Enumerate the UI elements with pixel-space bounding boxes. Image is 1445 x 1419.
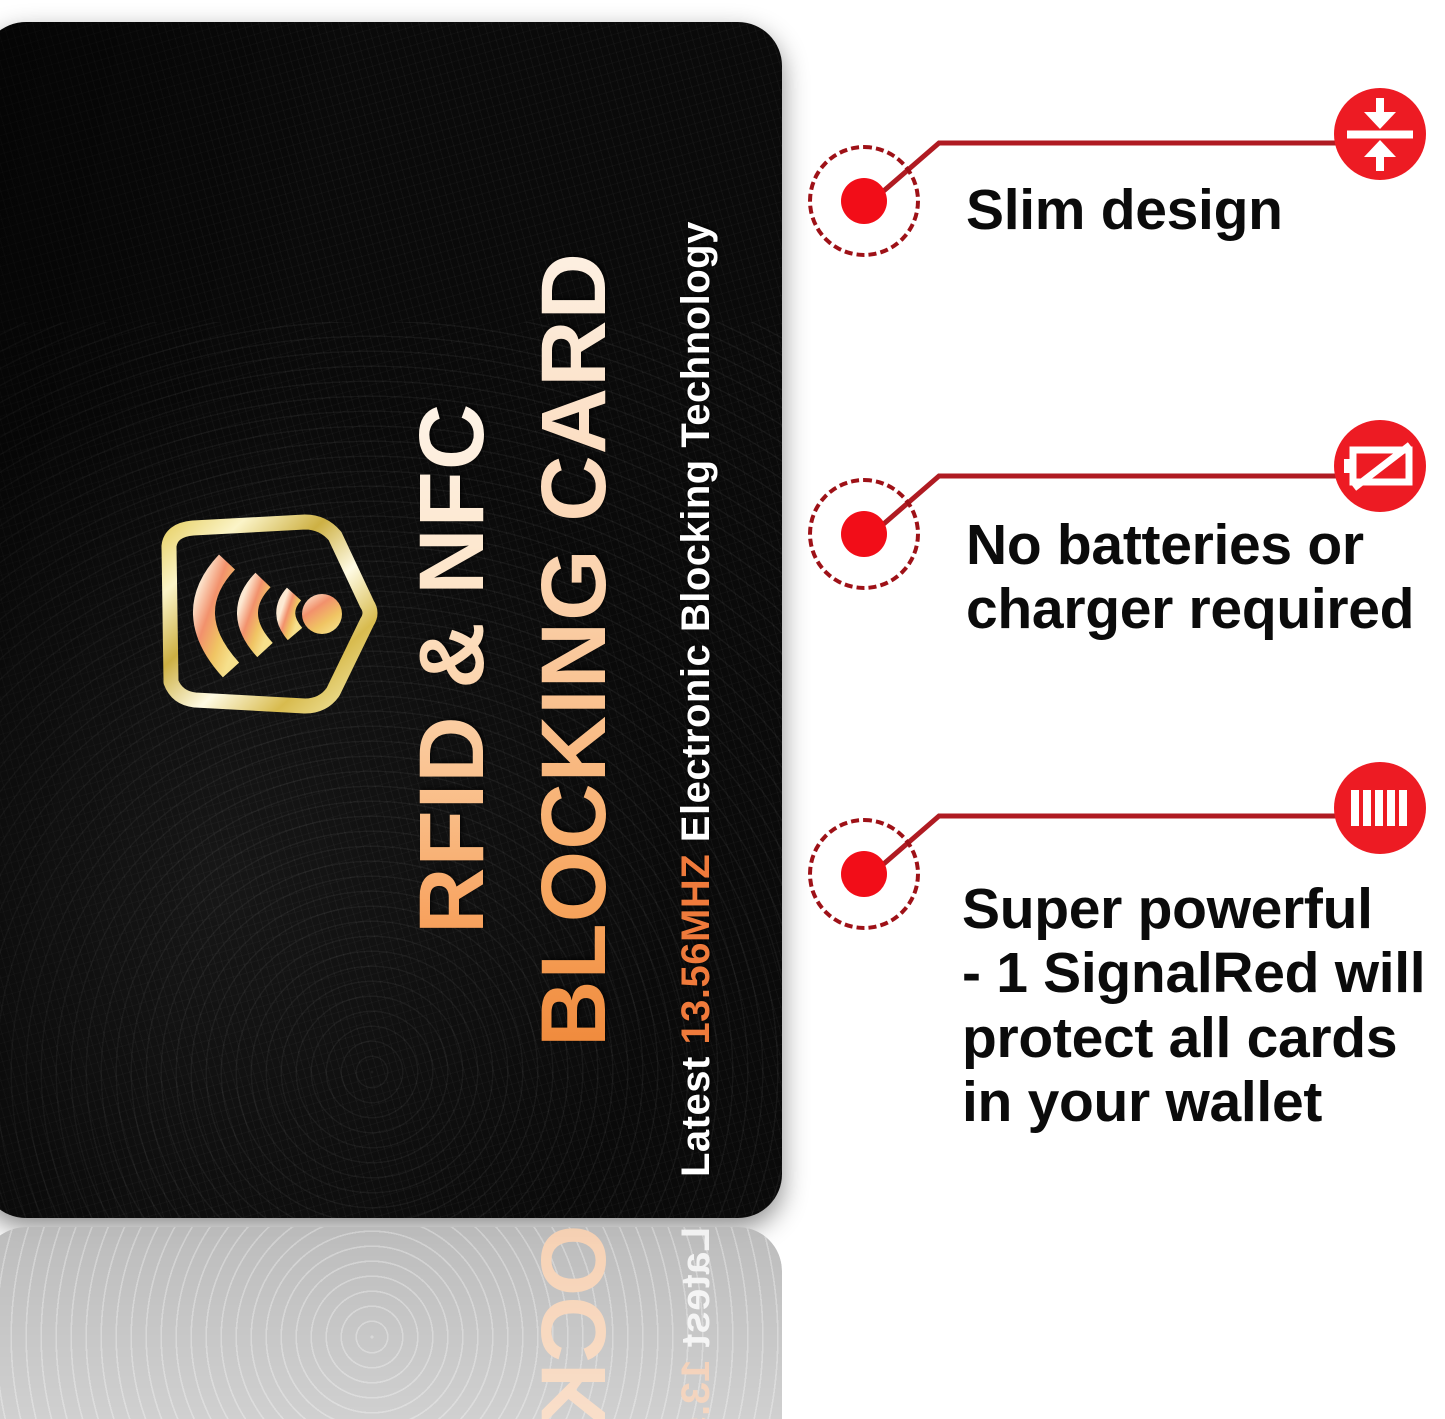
card-reflection-surface: Latest 13.56MHZ Electronic Blocking Tech… bbox=[0, 1227, 782, 1419]
card-reflection-texture bbox=[0, 1227, 782, 1419]
card-reflection: Latest 13.56MHZ Electronic Blocking Tech… bbox=[0, 1227, 782, 1419]
card-stack-bars-icon bbox=[1334, 762, 1426, 854]
feature-label-super-powerful: Super powerful - 1 SignalRed will protec… bbox=[962, 877, 1425, 1135]
feature-callout-super-powerful: Super powerful - 1 SignalRed will protec… bbox=[0, 0, 1445, 1200]
card-reflection-subtitle-prefix: Latest bbox=[674, 1227, 718, 1359]
card-reflection-title-secondary: BLOCKING CARD bbox=[528, 1227, 620, 1419]
callout-marker-super-powerful bbox=[808, 818, 920, 930]
marker-dot-icon bbox=[841, 851, 887, 897]
card-reflection-subtitle: Latest 13.56MHZ Electronic Blocking Tech… bbox=[676, 1227, 716, 1419]
card-reflection-subtitle-frequency: 13.56MHZ bbox=[674, 1359, 718, 1419]
product-feature-graphic: RFID & NFC BLOCKING CARD Latest 13.56MHZ… bbox=[0, 0, 1445, 1419]
